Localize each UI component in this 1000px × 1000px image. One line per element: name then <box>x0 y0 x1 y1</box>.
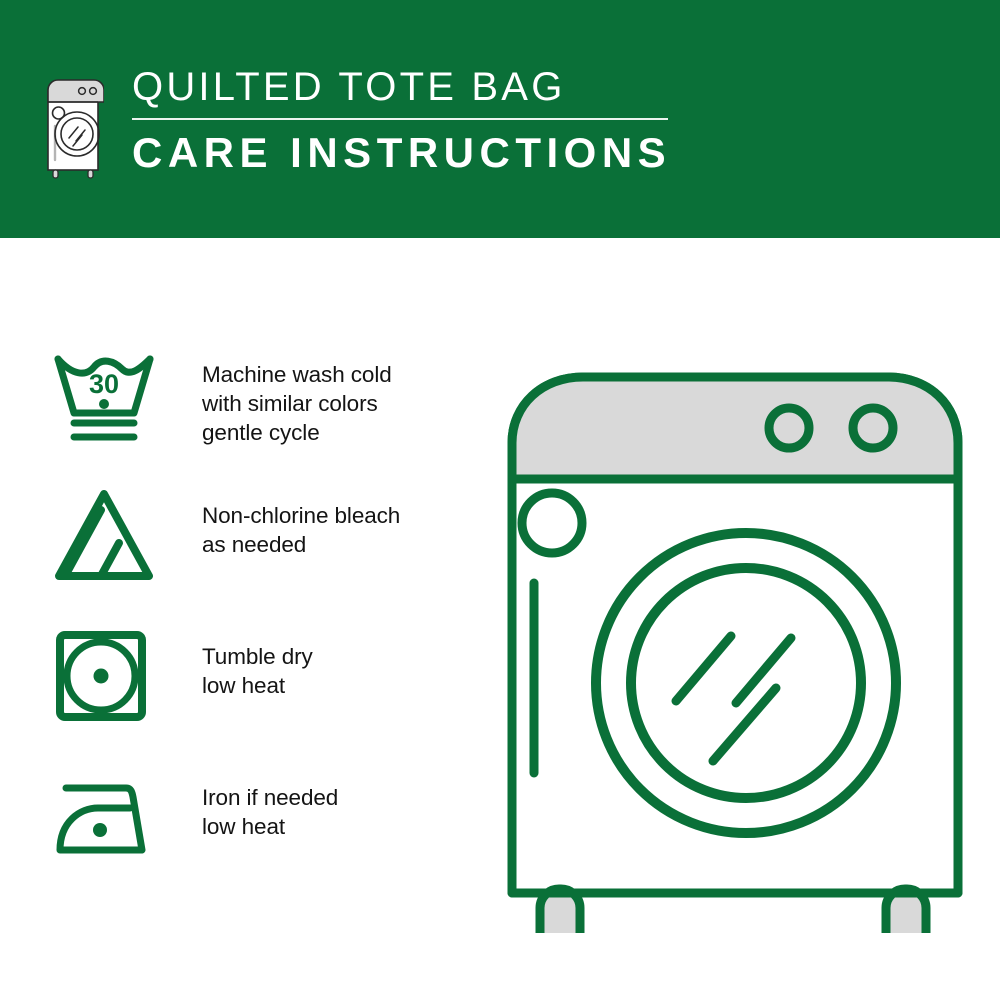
care-row-bleach: Non-chlorine bleach as needed <box>52 484 472 625</box>
care-row-tumble-dry: Tumble dry low heat <box>52 625 472 766</box>
care-row-iron: Iron if needed low heat <box>52 766 472 907</box>
iron-low-heat-icon <box>52 766 166 870</box>
care-instructions-page: QUILTED TOTE BAG CARE INSTRUCTIONS 30 <box>0 0 1000 1000</box>
body-area: 30 Machine wash cold with similar colors… <box>0 238 1000 1000</box>
header-banner: QUILTED TOTE BAG CARE INSTRUCTIONS <box>0 0 1000 238</box>
care-text-bleach: Non-chlorine bleach as needed <box>202 484 400 559</box>
tumble-dry-low-icon <box>52 625 166 729</box>
care-text-iron: Iron if needed low heat <box>202 766 338 841</box>
non-chlorine-bleach-triangle-icon <box>52 484 166 588</box>
page-title-product: QUILTED TOTE BAG <box>132 62 671 112</box>
title-divider <box>132 118 668 120</box>
header-title-block: QUILTED TOTE BAG CARE INSTRUCTIONS <box>132 62 671 178</box>
care-instruction-list: 30 Machine wash cold with similar colors… <box>52 343 472 907</box>
wash-tub-30-icon: 30 <box>52 343 166 447</box>
care-row-machine-wash: 30 Machine wash cold with similar colors… <box>52 343 472 484</box>
care-text-tumble-dry: Tumble dry low heat <box>202 625 313 700</box>
washing-machine-icon <box>42 70 104 182</box>
page-title-care-instructions: CARE INSTRUCTIONS <box>132 128 671 178</box>
care-text-machine-wash: Machine wash cold with similar colors ge… <box>202 343 392 447</box>
header-content: QUILTED TOTE BAG CARE INSTRUCTIONS <box>42 62 671 182</box>
front-load-washing-machine-illustration <box>488 333 978 933</box>
wash-temperature-label: 30 <box>89 369 119 399</box>
